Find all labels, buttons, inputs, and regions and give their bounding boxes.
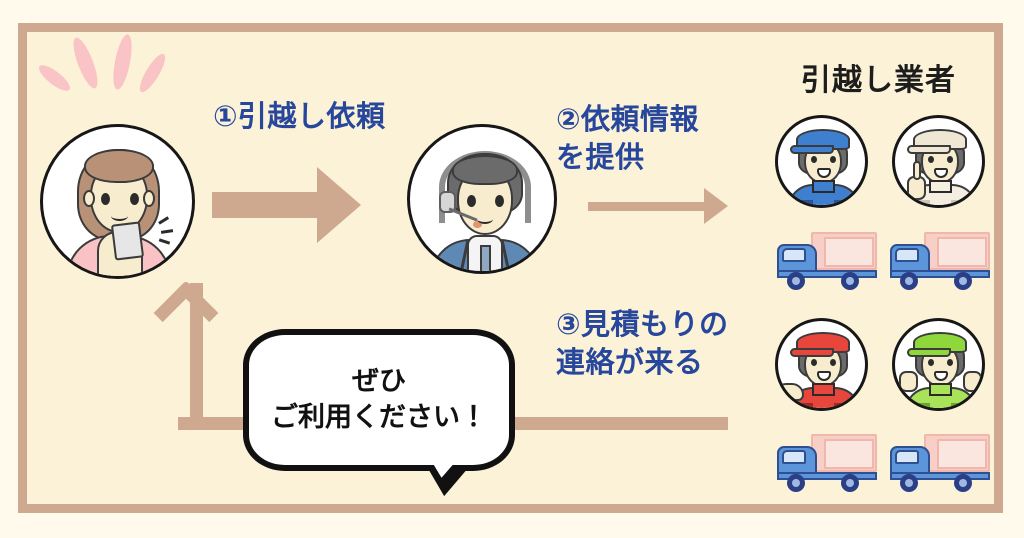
customer-eye-left xyxy=(101,193,110,205)
notification-tick-2 xyxy=(161,229,173,233)
bubble-text: ぜひ ご利用ください！ xyxy=(243,329,515,471)
truck-wheel-rear-hub xyxy=(846,277,854,285)
customer-ear-right xyxy=(143,190,155,207)
mover-beige-collar xyxy=(929,180,952,193)
arrow-shaft xyxy=(212,192,317,218)
truck-window xyxy=(895,450,919,464)
mover-red-cap-brim xyxy=(790,348,834,357)
pointing-finger xyxy=(913,161,921,180)
truck-wheel-rear-hub xyxy=(959,479,967,487)
mover-green-collar xyxy=(929,383,952,396)
mover-red-collar xyxy=(812,383,835,396)
step-2-label: ②依頼情報 を提供 xyxy=(556,100,699,177)
step-3-label: ③見積もりの 連絡が来る xyxy=(556,305,729,382)
notification-tick-1 xyxy=(158,216,169,224)
truck-wheel-rear-hub xyxy=(959,277,967,285)
truck-wheel-front-hub xyxy=(792,277,800,285)
customer-mouth xyxy=(111,211,128,221)
mover-beige-eye-right xyxy=(947,156,953,163)
operator-mouth xyxy=(477,214,493,224)
mover-blue-eye-left xyxy=(811,156,817,163)
arrow-shaft xyxy=(588,202,704,211)
moving-truck-3 xyxy=(775,434,879,492)
mover-green-pocket-left xyxy=(916,403,930,407)
operator-tie xyxy=(480,245,491,274)
customer-avatar xyxy=(40,124,195,279)
truck-wheel-rear-hub xyxy=(846,479,854,487)
mover-beige-eye-left xyxy=(928,156,934,163)
mover-blue-pocket-left xyxy=(799,200,813,204)
customer-fringe xyxy=(84,149,154,183)
mover-avatar-blue xyxy=(775,115,868,208)
operator-avatar xyxy=(407,124,557,274)
arrow-head xyxy=(317,167,361,243)
mover-beige-pocket-left xyxy=(916,200,930,204)
mover-red-eye-right xyxy=(830,359,836,366)
raised-fist-right-icon xyxy=(963,371,982,392)
mover-green-pocket-right xyxy=(951,403,965,407)
operator-eye-left xyxy=(467,195,476,207)
bubble-text-line-2: ご利用ください！ xyxy=(271,400,487,436)
mover-blue-cap-brim xyxy=(790,145,834,154)
mover-red-pocket-left xyxy=(799,403,813,407)
bubble-text-line-1: ぜひ xyxy=(352,364,406,400)
moving-truck-4 xyxy=(888,434,992,492)
mover-beige-pocket-right xyxy=(951,200,965,204)
infographic-canvas: ①引越し依頼 xyxy=(0,0,1024,538)
smartphone-icon xyxy=(111,221,144,260)
mover-beige-cap-brim xyxy=(907,145,951,154)
truck-wheel-front-hub xyxy=(792,479,800,487)
truck-wheel-front-hub xyxy=(905,277,913,285)
operator-fringe xyxy=(452,155,518,185)
moving-truck-2 xyxy=(888,232,992,290)
arrow-head xyxy=(704,188,728,224)
mover-green-cap-brim xyxy=(907,348,951,357)
truck-window xyxy=(782,450,806,464)
mover-avatar-green xyxy=(892,318,985,411)
truck-window xyxy=(895,248,919,262)
step-1-label: ①引越し依頼 xyxy=(213,97,386,135)
moving-truck-1 xyxy=(775,232,879,290)
raised-fist-left-icon xyxy=(899,371,918,392)
notification-tick-3 xyxy=(159,238,170,244)
truck-cargo-face xyxy=(937,237,987,267)
vendor-section-heading: 引越し業者 xyxy=(801,55,956,99)
operator-eye-right xyxy=(495,195,504,207)
mover-green-eye-left xyxy=(928,359,934,366)
mover-avatar-beige xyxy=(892,115,985,208)
mover-blue-eye-right xyxy=(830,156,836,163)
truck-window xyxy=(782,248,806,262)
mover-red-eye-left xyxy=(811,359,817,366)
mover-blue-collar xyxy=(812,180,835,193)
call-to-action-bubble: ぜひ ご利用ください！ xyxy=(243,329,515,471)
mover-green-eye-right xyxy=(947,359,953,366)
presenting-hand-icon xyxy=(776,383,804,401)
mover-blue-pocket-right xyxy=(834,200,848,204)
truck-cargo-face xyxy=(824,237,874,267)
truck-wheel-front-hub xyxy=(905,479,913,487)
mover-avatar-red xyxy=(775,318,868,411)
truck-cargo-face xyxy=(937,439,987,469)
mover-red-pocket-right xyxy=(834,403,848,407)
customer-eye-right xyxy=(130,193,139,205)
customer-ear-left xyxy=(83,190,95,207)
truck-cargo-face xyxy=(824,439,874,469)
